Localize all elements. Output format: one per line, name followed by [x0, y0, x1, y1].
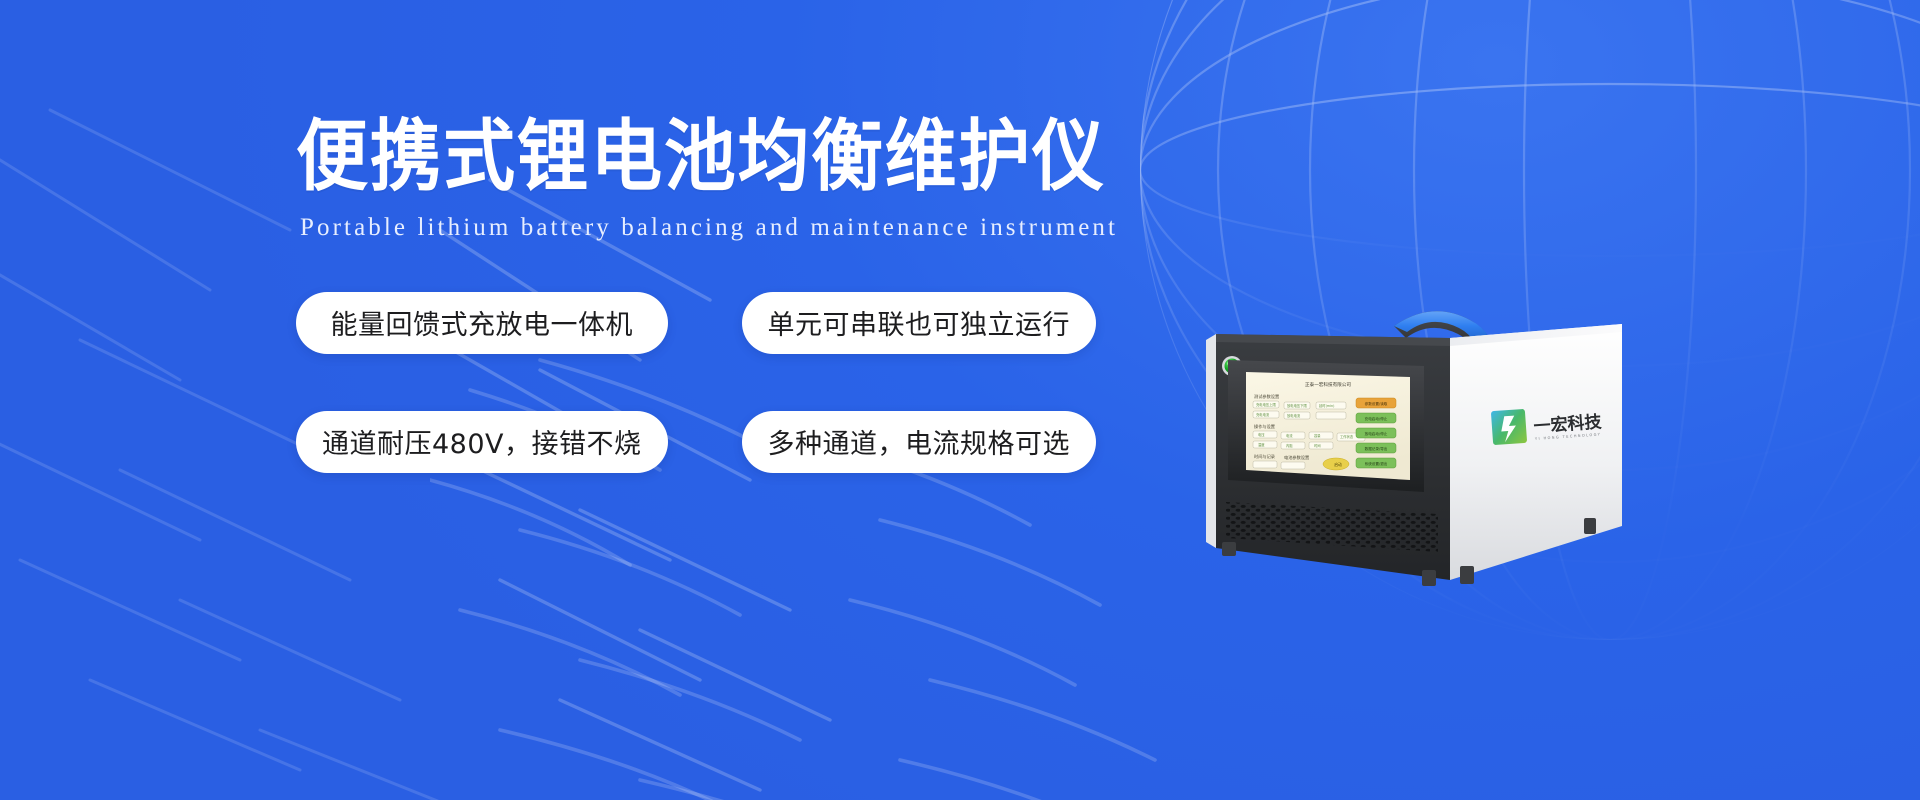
device-touchscreen[interactable]: 正泰一宏科技有限公司 测试参数设置 充电电压上限 放电电压下限 [1228, 360, 1424, 492]
product-device-image: 正泰一宏科技有限公司 测试参数设置 充电电压上限 放电电压下限 [1160, 280, 1630, 610]
promo-banner: 便携式锂电池均衡维护仪 Portable lithium battery bal… [0, 0, 1920, 800]
screen-section-label-2: 操作与设置 [1254, 423, 1275, 430]
svg-text:工作状态: 工作状态 [1340, 434, 1354, 439]
feature-pill-1[interactable]: 能量回馈式充放电一体机 [296, 292, 668, 354]
feature-pill-3[interactable]: 通道耐压480V，接错不烧 [296, 411, 668, 473]
svg-text:放电电压下限: 放电电压下限 [1287, 403, 1307, 408]
feature-pill-2[interactable]: 单元可串联也可独立运行 [742, 292, 1097, 354]
svg-text:充电电压上限: 充电电压上限 [1256, 402, 1276, 407]
device-case [1443, 324, 1622, 584]
svg-text:启动: 启动 [1334, 462, 1342, 467]
svg-text:时间: 时间 [1314, 443, 1321, 448]
screen-button-4: 数据记录/导出 [1365, 446, 1388, 451]
screen-button-1: 参数设置/读取 [1365, 401, 1388, 406]
page-title: 便携式锂电池均衡维护仪 [296, 118, 1050, 198]
screen-button-5: 系统设置/退出 [1365, 461, 1388, 466]
svg-text:电流: 电流 [1286, 433, 1293, 438]
svg-text:内阻: 内阻 [1286, 443, 1293, 448]
screen-section-label-1: 测试参数设置 [1254, 393, 1279, 400]
screen-section-label-4: 电池参数设置 [1284, 454, 1309, 461]
screen-start-button[interactable]: 启动 [1323, 458, 1349, 470]
screen-button-2: 充电启动/停止 [1365, 416, 1388, 421]
svg-text:温度: 温度 [1258, 442, 1265, 447]
page-subtitle: Portable lithium battery balancing and m… [300, 214, 1116, 242]
svg-text:电压: 电压 [1258, 432, 1265, 437]
svg-text:放电电流: 放电电流 [1287, 413, 1301, 418]
svg-text:充电电流: 充电电流 [1256, 412, 1270, 417]
screen-section-label-3: 时间与记录 [1254, 453, 1275, 460]
feature-pill-4[interactable]: 多种通道，电流规格可选 [742, 411, 1097, 473]
banner-content: 便携式锂电池均衡维护仪 Portable lithium battery bal… [296, 118, 1116, 473]
screen-button-3: 放电启动/停止 [1365, 431, 1388, 436]
svg-text:容量: 容量 [1314, 433, 1321, 438]
screen-title: 正泰一宏科技有限公司 [1305, 381, 1351, 388]
svg-text:延时(min): 延时(min) [1319, 403, 1334, 408]
feature-pill-list: 能量回馈式充放电一体机 单元可串联也可独立运行 通道耐压480V，接错不烧 多种… [296, 292, 1116, 473]
